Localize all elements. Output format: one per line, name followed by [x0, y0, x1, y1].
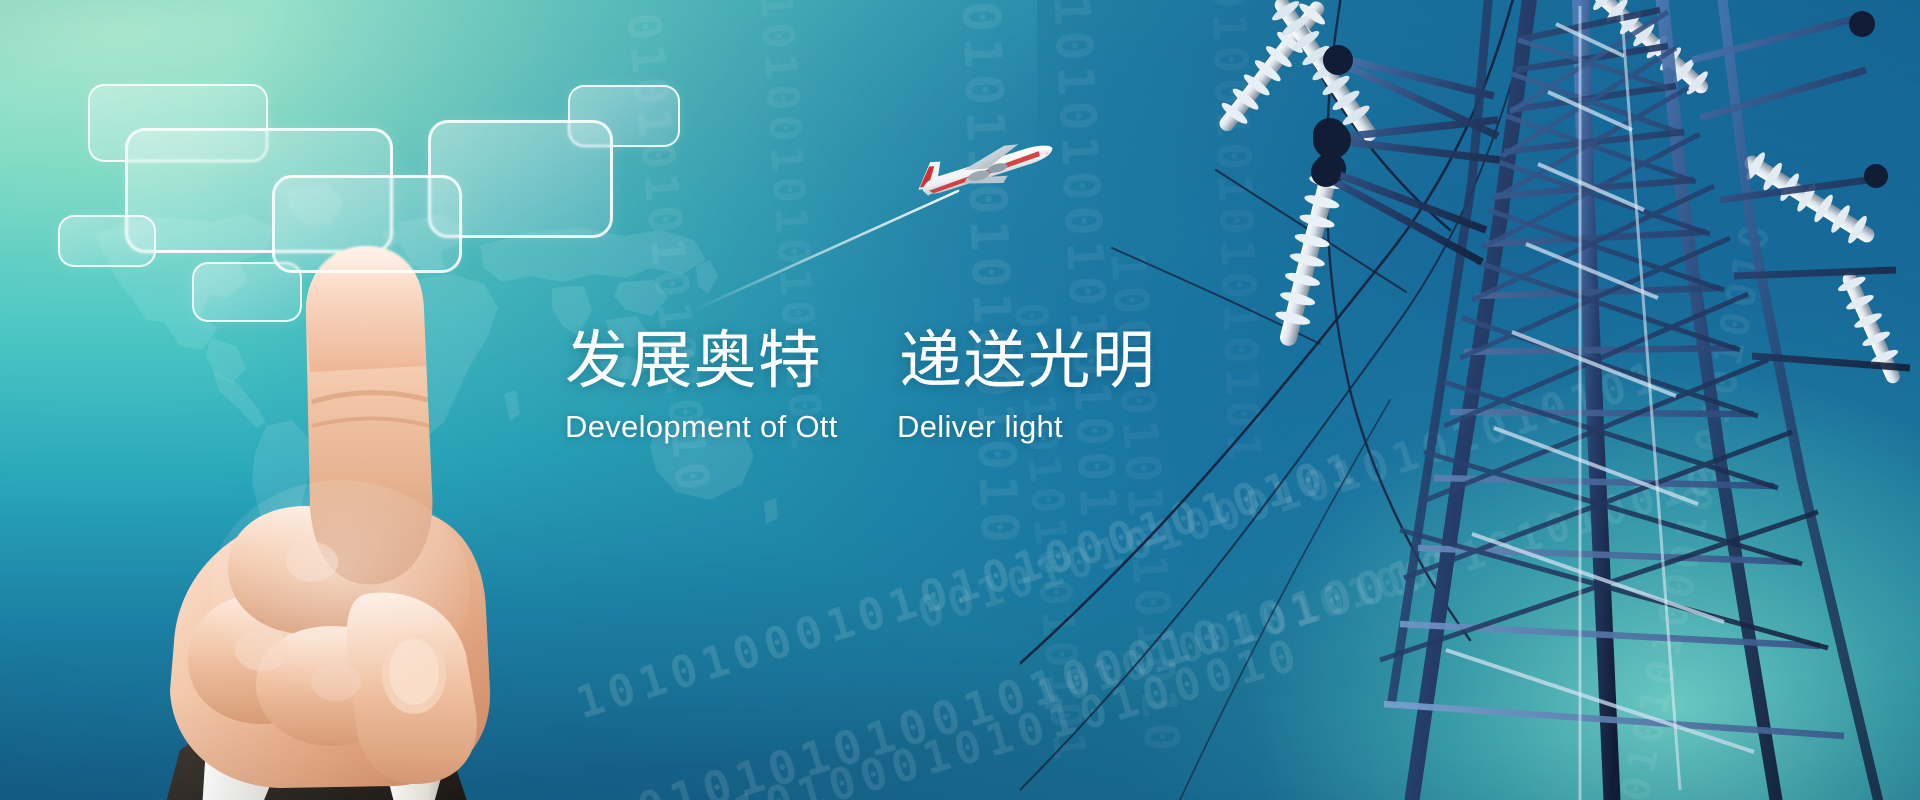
banner-hero: 010101010101010 101001010100101 01011010…: [0, 0, 1920, 800]
vignette-overlay: [0, 0, 1920, 800]
